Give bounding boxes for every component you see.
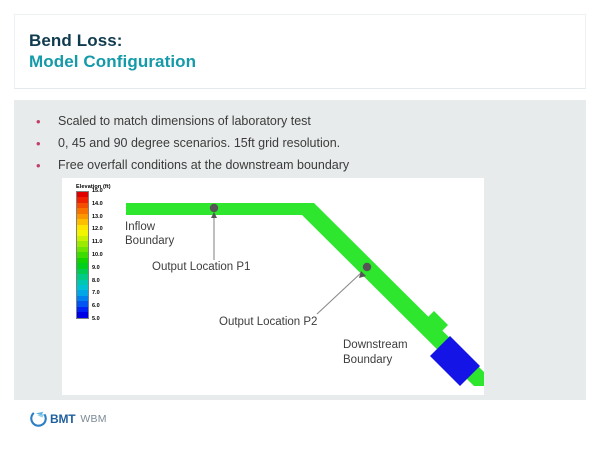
bullet-text: Free overfall conditions at the downstre… (58, 158, 349, 173)
slide-footer: BMT WBM (14, 406, 586, 438)
bullet-marker-icon: • (36, 136, 58, 151)
slide-header: Bend Loss: Model Configuration (14, 14, 586, 89)
output-location-p2-marker (363, 263, 371, 271)
downstream-boundary-label-line2: Boundary (343, 353, 392, 367)
title-line-primary: Bend Loss: (29, 30, 196, 51)
logo-text-bmt: BMT (50, 412, 75, 426)
list-item: • Scaled to match dimensions of laborato… (36, 114, 349, 129)
bmt-swirl-icon (30, 410, 47, 427)
model-configuration-figure: Elevation (ft) 15.014.013.012.011.010.09… (62, 178, 484, 395)
brand-logo: BMT WBM (30, 410, 107, 427)
channel-diagram (62, 178, 484, 395)
bullet-marker-icon: • (36, 114, 58, 129)
output-location-p2-label: Output Location P2 (219, 315, 317, 329)
downstream-boundary-label-line1: Downstream (343, 338, 408, 352)
bullet-text: Scaled to match dimensions of laboratory… (58, 114, 311, 129)
list-item: • Free overfall conditions at the downst… (36, 158, 349, 173)
output-location-p1-marker (210, 204, 218, 212)
output-location-p1-label: Output Location P1 (152, 260, 250, 274)
logo-text-wbm: WBM (80, 413, 106, 425)
list-item: • 0, 45 and 90 degree scenarios. 15ft gr… (36, 136, 349, 151)
p2-leader-line (317, 272, 362, 314)
slide: Bend Loss: Model Configuration • Scaled … (0, 0, 600, 450)
bullet-text: 0, 45 and 90 degree scenarios. 15ft grid… (58, 136, 340, 151)
inflow-boundary-label-line1: Inflow (125, 220, 155, 234)
content-panel: • Scaled to match dimensions of laborato… (14, 100, 586, 400)
bullet-marker-icon: • (36, 158, 58, 173)
inflow-boundary-label-line2: Boundary (125, 234, 174, 248)
page-title: Bend Loss: Model Configuration (29, 30, 196, 72)
bullet-list: • Scaled to match dimensions of laborato… (36, 114, 349, 180)
title-line-secondary: Model Configuration (29, 51, 196, 72)
